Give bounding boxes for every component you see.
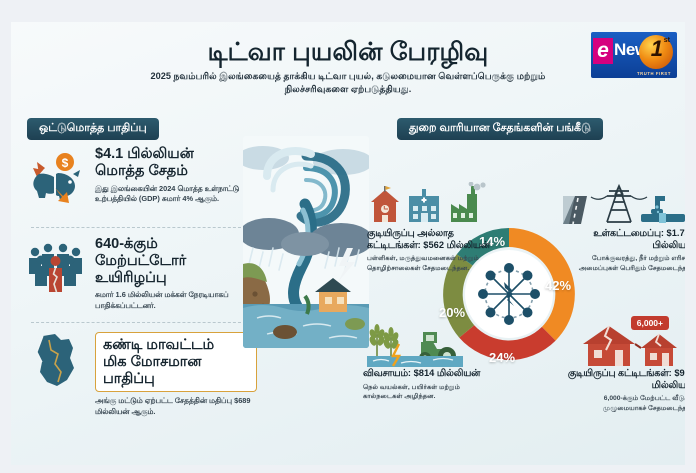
stat-headline-line: உயிரிழப்பு — [95, 270, 257, 287]
sector-non-residential-description: பள்ளிகள், மருத்துவமனைகள் மற்றும் தொழிற்ச… — [367, 254, 491, 273]
kandy-district-map-icon — [25, 330, 87, 392]
stat-headline-line: 640-க்கும் — [95, 236, 257, 253]
page-title: டிட்வா புயலின் பேரழிவு — [11, 38, 685, 70]
stat-headline-line: மொத்த சேதம் — [95, 163, 257, 180]
enews-1st-logo: e News 1 st TRUTH FIRST — [591, 32, 677, 78]
stat-casualties-body: 640-க்கும் மேற்பட்டோர் உயிரிழப்பு சுமார்… — [95, 234, 257, 311]
stat-headline-line: மிக மோசமான பாதிப்பு — [103, 354, 249, 388]
sector-agriculture: விவசாயம்: $814 மில்லியன் நெல் வயல்கள், ப… — [363, 322, 487, 401]
header: டிட்வா புயலின் பேரழிவு 2025 நவம்பரில் இல… — [11, 22, 685, 100]
banner-sector-breakdown: துறை வாரியான சேதங்களின் பங்கீடு — [397, 118, 603, 140]
divider — [31, 322, 246, 323]
sector-non-residential: குடியிருப்பு அல்லாத கட்டிடங்கள்: $562 மி… — [367, 182, 491, 273]
svg-text:$: $ — [62, 156, 69, 170]
houses-count-badge: 6,000+ — [631, 316, 669, 330]
cyclone-storm-illustration — [243, 136, 369, 348]
power-line-water-pipe-icon — [563, 182, 685, 228]
donut-label-42: 42% — [545, 278, 571, 293]
logo-one-digit: 1 — [651, 36, 663, 62]
stat-casualties-description: சுமார் 1.6 மில்லியன் மக்கள் நேரடியாகப் ப… — [95, 290, 257, 311]
sector-non-residential-title: குடியிருப்பு அல்லாத கட்டிடங்கள்: $562 மி… — [367, 228, 491, 251]
sector-agriculture-description: நெல் வயல்கள், பயிர்கள் மற்றும் கால்நடைகள… — [363, 383, 487, 402]
stat-casualties-headline: 640-க்கும் மேற்பட்டோர் உயிரிழப்பு — [95, 236, 257, 286]
stat-total-damage-body: $4.1 பில்லியன் மொத்த சேதம் இது இலங்கையின… — [95, 144, 257, 205]
divider — [31, 227, 246, 228]
logo-tagline: TRUTH FIRST — [637, 71, 671, 76]
stat-worst-district-description: அங்கு மட்டும் ஏற்பட்ட சேதத்தின் மதிப்பு … — [95, 396, 257, 417]
stat-headline-line: மேற்பட்டோர் — [95, 253, 257, 270]
broken-piggy-bank-icon: $ — [25, 144, 87, 206]
donut-label-24: 24% — [489, 350, 515, 365]
crowd-people-icon — [25, 234, 87, 296]
sector-residential-title: குடியிருப்பு கட்டிடங்கள்: $985 மில்லியன் — [561, 368, 685, 391]
logo-e-letter: e — [593, 38, 613, 64]
stat-total-damage-headline: $4.1 பில்லியன் மொத்த சேதம் — [95, 146, 257, 180]
school-hospital-factory-icon — [367, 182, 491, 228]
stat-headline-line: கண்டி மாவட்டம் — [103, 337, 249, 354]
donut-label-20: 20% — [439, 305, 465, 320]
stat-worst-district-body: கண்டி மாவட்டம் மிக மோசமான பாதிப்பு அங்கு… — [95, 330, 257, 417]
stat-worst-district-headline: கண்டி மாவட்டம் மிக மோசமான பாதிப்பு — [95, 332, 257, 392]
stat-headline-line: $4.1 பில்லியன் — [95, 146, 257, 163]
infographic-canvas: டிட்வா புயலின் பேரழிவு 2025 நவம்பரில் இல… — [11, 22, 685, 465]
banner-overall-impact: ஒட்டுமொத்த பாதிப்பு — [27, 118, 159, 140]
stat-total-damage-description: இது இலங்கையின் 2024 மொத்த உள்நாட்டு உற்ப… — [95, 184, 257, 205]
page-subtitle: 2025 நவம்பரில் இலங்கையைத் தாக்கிய டிட்வா… — [131, 70, 565, 96]
stat-total-damage: $ $4.1 பில்லியன் மொத்த சேதம் இது இலங்கைய… — [25, 144, 257, 206]
damaged-houses-icon: 6,000+ — [561, 322, 685, 368]
sector-infrastructure-title: உள்கட்டமைப்பு: $1.735 பில்லியன் — [563, 228, 685, 251]
sector-infrastructure: உள்கட்டமைப்பு: $1.735 பில்லியன் போக்குவர… — [563, 182, 685, 273]
sector-agriculture-title: விவசாயம்: $814 மில்லியன் — [363, 368, 487, 380]
sector-residential-description: 6,000-க்கும் மேற்பட்ட வீடுகள் முழுமையாகச… — [561, 394, 685, 413]
logo-superscript: st — [664, 37, 670, 44]
sector-residential: 6,000+ குடியிருப்பு கட்டிடங்கள்: $985 மி… — [561, 322, 685, 413]
tractor-crops-flood-icon — [363, 322, 487, 368]
stat-worst-district: கண்டி மாவட்டம் மிக மோசமான பாதிப்பு அங்கு… — [25, 330, 257, 417]
stat-casualties: 640-க்கும் மேற்பட்டோர் உயிரிழப்பு சுமார்… — [25, 234, 257, 311]
sector-infrastructure-description: போக்குவரத்து, நீர் மற்றும் எரிசக்தி அமைப… — [563, 254, 685, 273]
